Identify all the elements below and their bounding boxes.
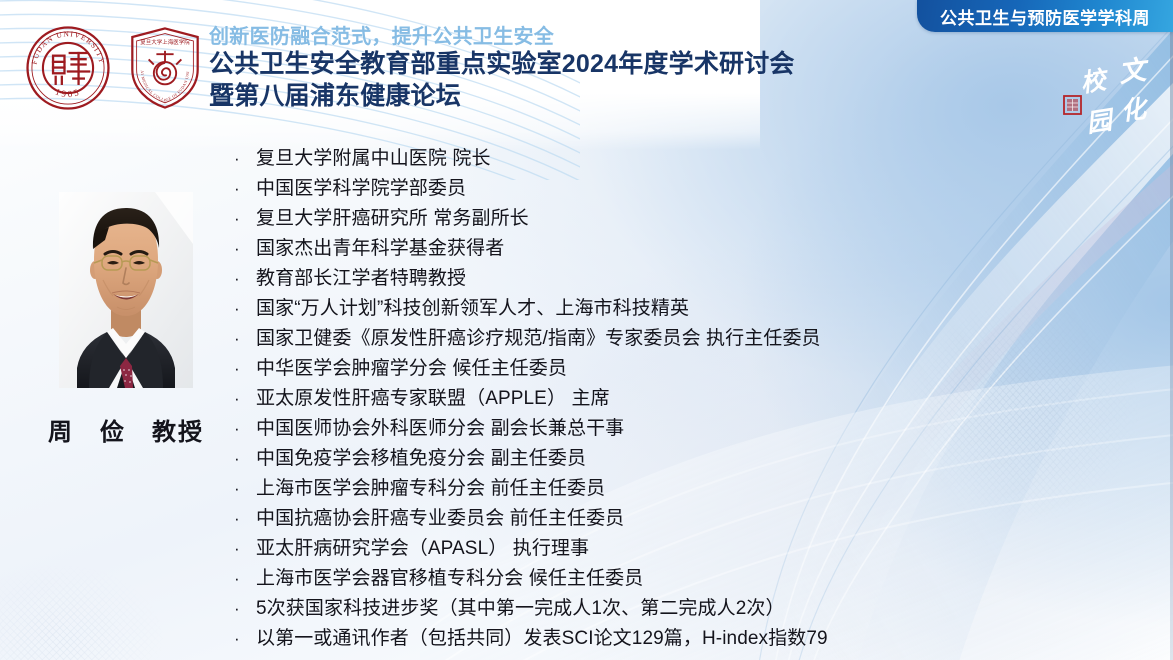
event-subtitle: 创新医防融合范式，提升公共卫生安全 [209,25,929,49]
calligraphy-char-hua: 化 [1119,95,1151,126]
bullet-glyph: · [234,594,256,624]
list-item: · 中国抗癌协会肝癌专业委员会 前任主任委员 [234,504,1004,534]
bullet-glyph: · [234,174,256,204]
bullet-glyph: · [234,504,256,534]
bullet-glyph: · [234,414,256,444]
event-title-line1: 公共卫生安全教育部重点实验室2024年度学术研讨会 [209,49,929,81]
speaker-name: 周 俭 教授 [36,412,216,447]
logo-group: FUDAN UNIVERSITY 1905 复旦大学上 [24,24,202,112]
bullet-glyph: · [234,294,256,324]
list-item: · 上海市医学会器官移植专科分会 候任主任委员 [234,564,1004,594]
svg-text:复旦大学上海医学院: 复旦大学上海医学院 [140,38,190,46]
calligraphy-char-yuan: 园 [1085,107,1118,138]
list-item: · 中国医学科学院学部委员 [234,174,1004,204]
campus-culture-calligraphy: 校 园 文 化 [1042,52,1154,144]
list-item-label: 以第一或通讯作者（包括共同）发表SCI论文129篇，H-index指数79 [256,624,828,654]
list-item: · 国家杰出青年科学基金获得者 [234,234,1004,264]
calligraphy-char-xiao: 校 [1079,66,1112,98]
list-item-label: 中国抗癌协会肝癌专业委员会 前任主任委员 [256,504,624,534]
bullet-glyph: · [234,534,256,564]
list-item-label: 国家杰出青年科学基金获得者 [256,234,504,264]
list-item: · 国家“万人计划”科技创新领军人才、上海市科技精英 [234,294,1004,324]
list-item: · 上海市医学会肿瘤专科分会 前任主任委员 [234,474,1004,504]
title-block: 创新医防融合范式，提升公共卫生安全 公共卫生安全教育部重点实验室2024年度学术… [209,25,929,113]
list-item: · 复旦大学肝癌研究所 常务副所长 [234,204,1004,234]
list-item: · 中国免疫学会移植免疫分会 副主任委员 [234,444,1004,474]
list-item-label: 中国医学科学院学部委员 [256,174,466,204]
list-item-label: 中华医学会肿瘤学分会 候任主任委员 [256,354,567,384]
list-item: · 亚太原发性肝癌专家联盟（APPLE） 主席 [234,384,1004,414]
calligraphy-char-wen: 文 [1117,54,1151,88]
event-title-line2: 暨第八届浦东健康论坛 [209,81,929,113]
svg-text:FUDAN UNIVERSITY: FUDAN UNIVERSITY [29,29,106,65]
discipline-week-badge-label: 公共卫生与预防医学学科周 [940,4,1150,29]
list-item-label: 中国免疫学会移植免疫分会 副主任委员 [256,444,586,474]
bullet-glyph: · [234,354,256,384]
shanghai-medical-college-logo: 复旦大学上海医学院 SHANGHAI MEDICAL COLLEGE OF FU… [128,25,202,111]
list-item-label: 复旦大学附属中山医院 院长 [256,144,491,174]
list-item-label: 国家卫健委《原发性肝癌诊疗规范/指南》专家委员会 执行主任委员 [256,324,821,354]
bullet-glyph: · [234,234,256,264]
list-item: · 中国医师协会外科医师分会 副会长兼总干事 [234,414,1004,444]
list-item-label: 中国医师协会外科医师分会 副会长兼总干事 [256,414,624,444]
mesh-texture-bottom-left [0,480,270,660]
bullet-glyph: · [234,264,256,294]
speaker-portrait [59,192,193,388]
list-item-label: 上海市医学会肿瘤专科分会 前任主任委员 [256,474,605,504]
list-item-label: 5次获国家科技进步奖（其中第一完成人1次、第二完成人2次） [256,594,785,624]
speaker-block: 周 俭 教授 [36,192,216,447]
list-item-label: 亚太肝病研究学会（APASL） 执行理事 [256,534,589,564]
bullet-glyph: · [234,474,256,504]
list-item-label: 教育部长江学者特聘教授 [256,264,466,294]
svg-text:1905: 1905 [54,87,82,100]
bullet-glyph: · [234,204,256,234]
list-item: · 亚太肝病研究学会（APASL） 执行理事 [234,534,1004,564]
fudan-university-logo: FUDAN UNIVERSITY 1905 [24,24,112,112]
list-item: · 教育部长江学者特聘教授 [234,264,1004,294]
bullet-glyph: · [234,444,256,474]
bullet-glyph: · [234,564,256,594]
list-item: · 以第一或通讯作者（包括共同）发表SCI论文129篇，H-index指数79 [234,624,1004,654]
calligraphy-seal [1064,96,1081,114]
list-item: · 5次获国家科技进步奖（其中第一完成人1次、第二完成人2次） [234,594,1004,624]
speaker-bio-list: · 复旦大学附属中山医院 院长 · 中国医学科学院学部委员 · 复旦大学肝癌研究… [234,144,1004,654]
presentation-slide: 公共卫生与预防医学学科周 FUDAN UNIVERSITY 1905 [0,0,1173,660]
list-item: · 中华医学会肿瘤学分会 候任主任委员 [234,354,1004,384]
bullet-glyph: · [234,624,256,654]
discipline-week-badge: 公共卫生与预防医学学科周 [917,0,1173,32]
list-item-label: 复旦大学肝癌研究所 常务副所长 [256,204,529,234]
list-item-label: 国家“万人计划”科技创新领军人才、上海市科技精英 [256,294,689,324]
speaker-portrait-image [59,192,193,388]
list-item: · 复旦大学附属中山医院 院长 [234,144,1004,174]
bullet-glyph: · [234,324,256,354]
list-item-label: 上海市医学会器官移植专科分会 候任主任委员 [256,564,643,594]
bullet-glyph: · [234,144,256,174]
bullet-glyph: · [234,384,256,414]
list-item: · 国家卫健委《原发性肝癌诊疗规范/指南》专家委员会 执行主任委员 [234,324,1004,354]
list-item-label: 亚太原发性肝癌专家联盟（APPLE） 主席 [256,384,610,414]
